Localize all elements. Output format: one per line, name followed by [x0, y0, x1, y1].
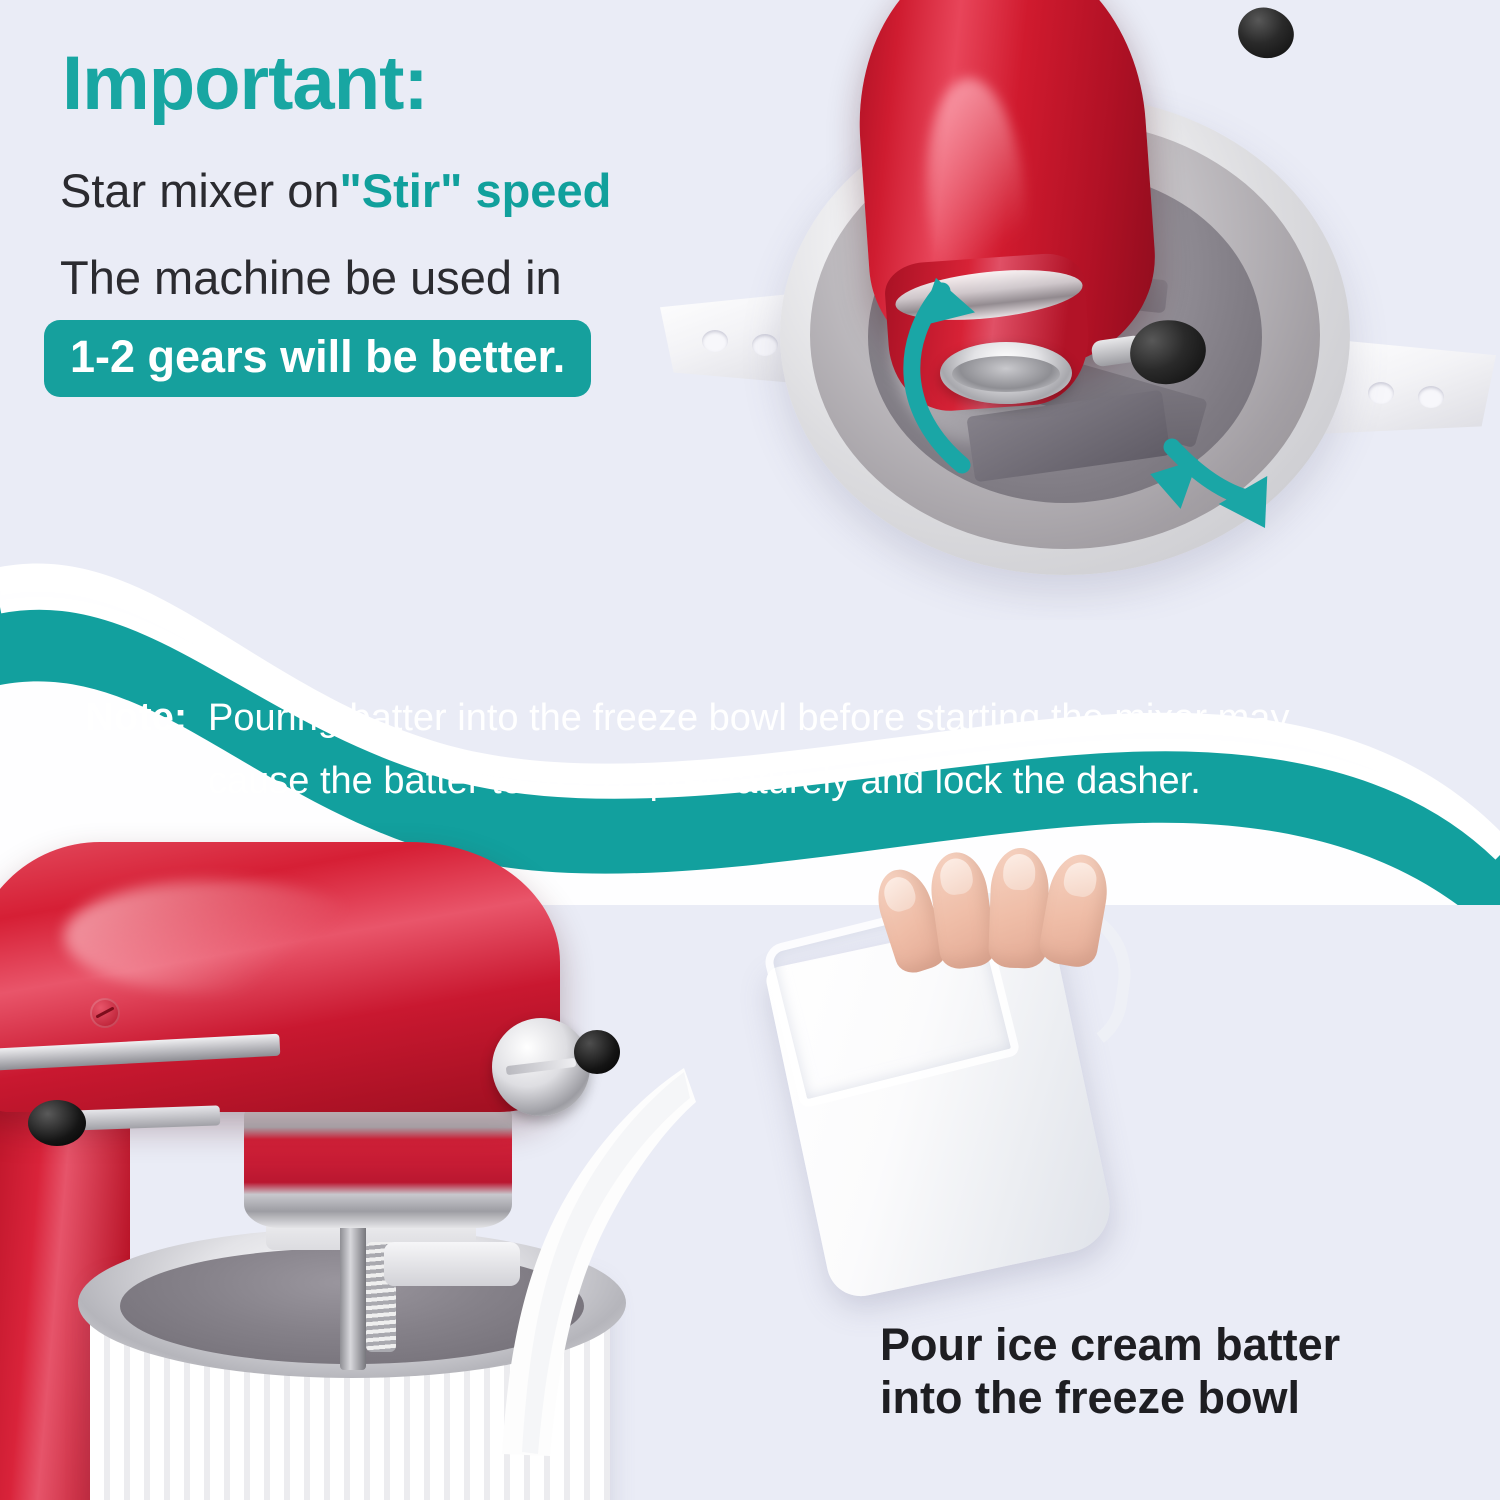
speed-knob [1233, 3, 1298, 64]
instruction-line-1-plain: Star mixer on [60, 164, 339, 217]
important-heading: Important: [62, 46, 428, 122]
rotation-arrows [780, 95, 1350, 575]
batter-stream [488, 1058, 698, 1458]
hand-holding-pitcher [862, 846, 1122, 996]
mount-hole [752, 334, 778, 356]
mixer-attachment-hub [244, 1108, 512, 1228]
dasher-shaft [340, 1220, 366, 1370]
instruction-line-1: Star mixer on"Stir" speed [60, 163, 611, 218]
product-infographic: Important: Star mixer on"Stir" speed The… [0, 0, 1500, 1500]
mixer-head-screw [90, 998, 120, 1028]
instruction-line-2: The machine be used in [60, 250, 562, 305]
instruction-line-1-accent: "Stir" speed [339, 164, 611, 217]
finger [1037, 850, 1114, 970]
gears-badge: 1-2 gears will be better. [44, 320, 591, 397]
mount-hole [1418, 386, 1444, 408]
mixer-tilt-arm [70, 1105, 221, 1130]
mixer-tilt-lever [28, 1100, 86, 1146]
bottom-caption-line-1: Pour ice cream batter [880, 1318, 1340, 1371]
mount-hole [702, 330, 728, 352]
mixer-head-red-side [0, 842, 560, 1112]
fingernail [1062, 860, 1099, 899]
photo-mixer-in-bowl-topdown [640, 0, 1500, 620]
bottom-caption-line-2: into the freeze bowl [880, 1371, 1340, 1424]
fingernail [1003, 853, 1036, 890]
fingernail [880, 873, 919, 915]
fingernail [938, 856, 975, 896]
mount-hole [1368, 382, 1394, 404]
bottom-caption: Pour ice cream batter into the freeze bo… [880, 1318, 1340, 1424]
